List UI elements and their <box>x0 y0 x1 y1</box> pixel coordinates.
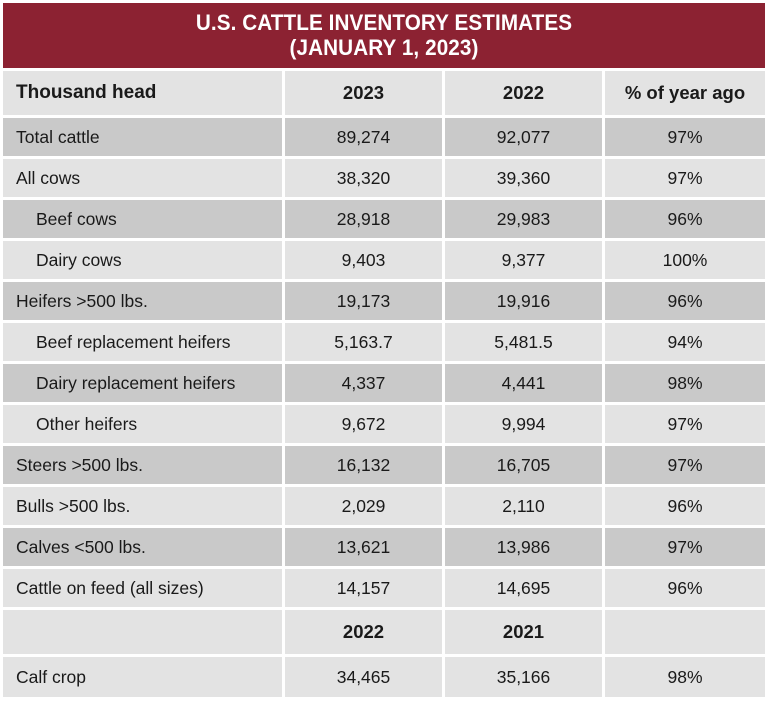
table-row: All cows38,32039,36097% <box>3 159 765 197</box>
row-value-pct: 96% <box>605 569 765 607</box>
table-row: Bulls >500 lbs.2,0292,11096% <box>3 487 765 525</box>
row-label: Dairy cows <box>3 241 282 279</box>
row-label: Bulls >500 lbs. <box>3 487 282 525</box>
row-label: Beef cows <box>3 200 282 238</box>
row-label: Dairy replacement heifers <box>3 364 282 402</box>
row-value-2021: 35,166 <box>445 657 602 697</box>
row-value-2023: 19,173 <box>285 282 442 320</box>
row-value-2023: 2,029 <box>285 487 442 525</box>
subheader-col-2022: 2022 <box>285 610 442 654</box>
row-label: Calf crop <box>3 657 282 697</box>
row-value-pct: 98% <box>605 364 765 402</box>
row-value-2022: 19,916 <box>445 282 602 320</box>
column-header-thousand-head: Thousand head <box>3 71 282 115</box>
table-row: Dairy cows9,4039,377100% <box>3 241 765 279</box>
column-header-2023: 2023 <box>285 71 442 115</box>
table-row: Beef replacement heifers5,163.75,481.594… <box>3 323 765 361</box>
row-value-pct: 96% <box>605 282 765 320</box>
table-title-line-2: (JANUARY 1, 2023) <box>26 35 742 60</box>
row-value-2022: 5,481.5 <box>445 323 602 361</box>
row-label: All cows <box>3 159 282 197</box>
row-value-2022: 9,994 <box>445 405 602 443</box>
row-value-2023: 14,157 <box>285 569 442 607</box>
row-value-pct: 100% <box>605 241 765 279</box>
table-row: Calf crop34,46535,16698% <box>3 657 765 697</box>
table-row: Heifers >500 lbs.19,17319,91696% <box>3 282 765 320</box>
row-value-2023: 38,320 <box>285 159 442 197</box>
row-value-2022: 4,441 <box>445 364 602 402</box>
row-value-2022: 39,360 <box>445 159 602 197</box>
row-value-2023: 9,672 <box>285 405 442 443</box>
cattle-inventory-table: U.S. CATTLE INVENTORY ESTIMATES (JANUARY… <box>0 0 768 724</box>
row-label: Beef replacement heifers <box>3 323 282 361</box>
table-title-line-1: U.S. CATTLE INVENTORY ESTIMATES <box>26 10 742 35</box>
row-value-2023: 4,337 <box>285 364 442 402</box>
row-value-2022: 2,110 <box>445 487 602 525</box>
subheader-label <box>3 610 282 654</box>
row-value-2022: 92,077 <box>445 118 602 156</box>
row-label: Total cattle <box>3 118 282 156</box>
row-value-pct: 94% <box>605 323 765 361</box>
row-value-pct: 96% <box>605 487 765 525</box>
table-row: Cattle on feed (all sizes)14,15714,69596… <box>3 569 765 607</box>
row-value-pct: 98% <box>605 657 765 697</box>
row-value-2023: 5,163.7 <box>285 323 442 361</box>
row-value-pct: 97% <box>605 118 765 156</box>
row-value-2022: 13,986 <box>445 528 602 566</box>
row-value-pct: 97% <box>605 446 765 484</box>
row-value-pct: 96% <box>605 200 765 238</box>
row-value-pct: 97% <box>605 528 765 566</box>
row-value-pct: 97% <box>605 159 765 197</box>
row-label: Other heifers <box>3 405 282 443</box>
row-value-2022: 29,983 <box>445 200 602 238</box>
table-row: Total cattle89,27492,07797% <box>3 118 765 156</box>
row-value-2023: 9,403 <box>285 241 442 279</box>
column-header-pct-year-ago: % of year ago <box>605 71 765 115</box>
table-row: Other heifers9,6729,99497% <box>3 405 765 443</box>
table-row: Dairy replacement heifers4,3374,44198% <box>3 364 765 402</box>
table-row: Steers >500 lbs.16,13216,70597% <box>3 446 765 484</box>
table-body: Thousand head20232022% of year agoTotal … <box>3 71 765 697</box>
column-header-2022: 2022 <box>445 71 602 115</box>
row-value-2022: 14,695 <box>445 569 602 607</box>
table-row: Beef cows28,91829,98396% <box>3 200 765 238</box>
row-label: Heifers >500 lbs. <box>3 282 282 320</box>
row-value-2023: 16,132 <box>285 446 442 484</box>
row-value-2023: 28,918 <box>285 200 442 238</box>
row-value-2022: 9,377 <box>445 241 602 279</box>
row-value-pct: 97% <box>605 405 765 443</box>
row-value-2022: 16,705 <box>445 446 602 484</box>
row-value-2023: 13,621 <box>285 528 442 566</box>
table-header-row: Thousand head20232022% of year ago <box>3 71 765 115</box>
row-value-2022: 34,465 <box>285 657 442 697</box>
table-subheader-row: 20222021 <box>3 610 765 654</box>
subheader-col-2021: 2021 <box>445 610 602 654</box>
row-label: Calves <500 lbs. <box>3 528 282 566</box>
row-label: Steers >500 lbs. <box>3 446 282 484</box>
table-title-band: U.S. CATTLE INVENTORY ESTIMATES (JANUARY… <box>3 3 765 68</box>
row-value-2023: 89,274 <box>285 118 442 156</box>
table-row: Calves <500 lbs.13,62113,98697% <box>3 528 765 566</box>
subheader-col-pct <box>605 610 765 654</box>
row-label: Cattle on feed (all sizes) <box>3 569 282 607</box>
